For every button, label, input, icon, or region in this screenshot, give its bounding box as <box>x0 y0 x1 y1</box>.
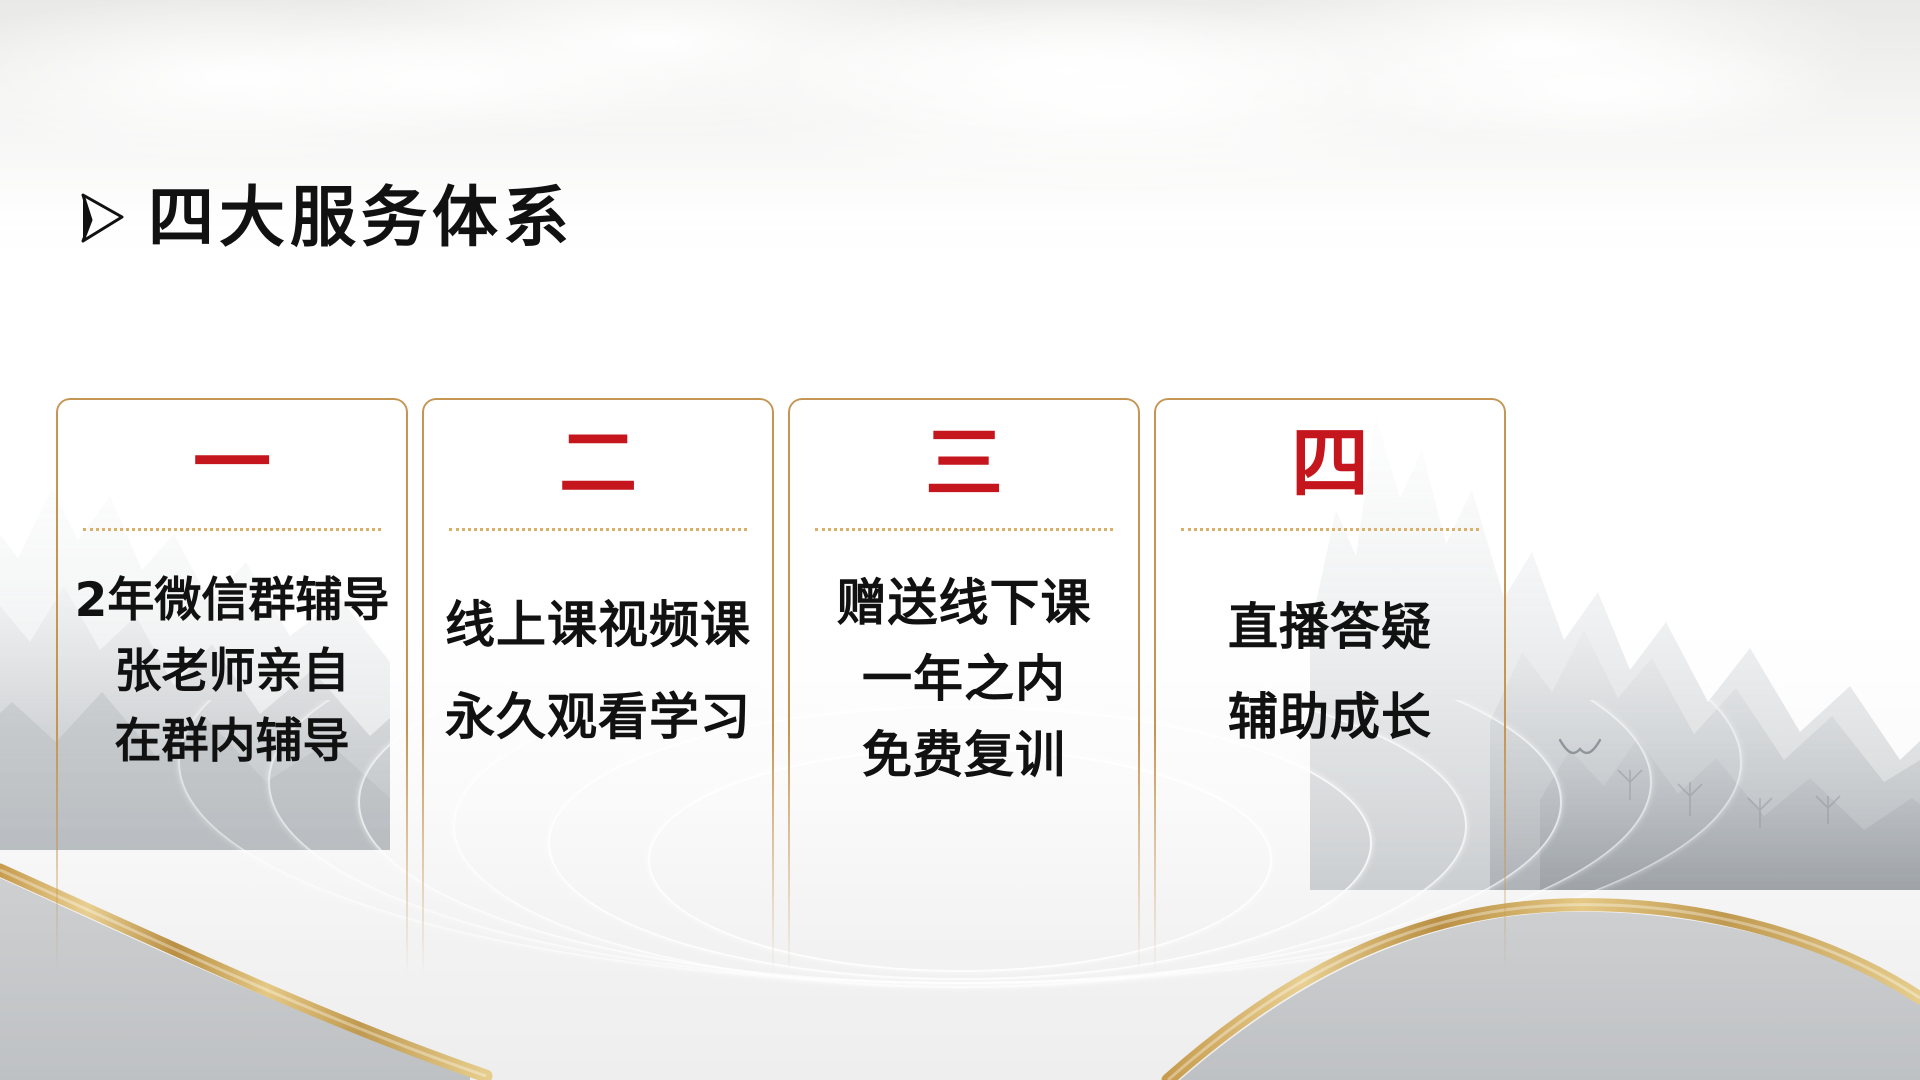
page-title: 四大服务体系 <box>78 185 574 251</box>
service-card-3[interactable]: 三 赠送线下课 一年之内 免费复训 <box>788 398 1140 973</box>
card-text-block: 赠送线下课 一年之内 免费复训 <box>788 575 1140 783</box>
card-numeral: 三 <box>925 416 1003 512</box>
service-card-1[interactable]: 一 2年微信群辅导 张老师亲自 在群内辅导 <box>56 398 408 973</box>
card-line: 赠送线下课 <box>837 575 1092 631</box>
card-divider <box>815 528 1113 531</box>
page-title-text: 四大服务体系 <box>148 185 574 251</box>
cloud-wisp <box>1340 30 1860 150</box>
card-line: 辅助成长 <box>1228 689 1432 745</box>
card-text-block: 线上课视频课 永久观看学习 <box>422 597 774 745</box>
card-divider <box>449 528 747 531</box>
card-numeral: 四 <box>1291 416 1369 512</box>
arrow-bullet-icon <box>78 190 124 246</box>
cloud-wisp <box>760 0 1380 140</box>
card-line: 一年之内 <box>862 651 1066 707</box>
card-line: 张老师亲自 <box>115 646 350 699</box>
card-line: 免费复训 <box>862 727 1066 783</box>
service-card-2[interactable]: 二 线上课视频课 永久观看学习 <box>422 398 774 973</box>
card-line: 2年微信群辅导 <box>75 575 390 628</box>
card-line: 在群内辅导 <box>115 716 350 769</box>
service-cards-row: 一 2年微信群辅导 张老师亲自 在群内辅导 二 线上课视频课 永久观看学习 <box>56 398 1516 973</box>
card-numeral: 一 <box>193 416 271 512</box>
cloud-wisp <box>180 20 700 140</box>
card-line: 直播答疑 <box>1228 599 1432 655</box>
service-card-4[interactable]: 四 直播答疑 辅助成长 <box>1154 398 1506 973</box>
flying-bird-icon <box>1558 738 1602 760</box>
card-text-block: 直播答疑 辅助成长 <box>1154 599 1506 745</box>
card-numeral: 二 <box>559 416 637 512</box>
card-divider <box>1181 528 1479 531</box>
slide-canvas: 四大服务体系 一 2年微信群辅导 张老师亲自 在群内辅导 二 线上课视频课 <box>0 0 1920 1080</box>
card-line: 永久观看学习 <box>445 689 751 745</box>
card-divider <box>83 528 381 531</box>
card-text-block: 2年微信群辅导 张老师亲自 在群内辅导 <box>56 575 408 769</box>
card-line: 线上课视频课 <box>445 597 751 653</box>
